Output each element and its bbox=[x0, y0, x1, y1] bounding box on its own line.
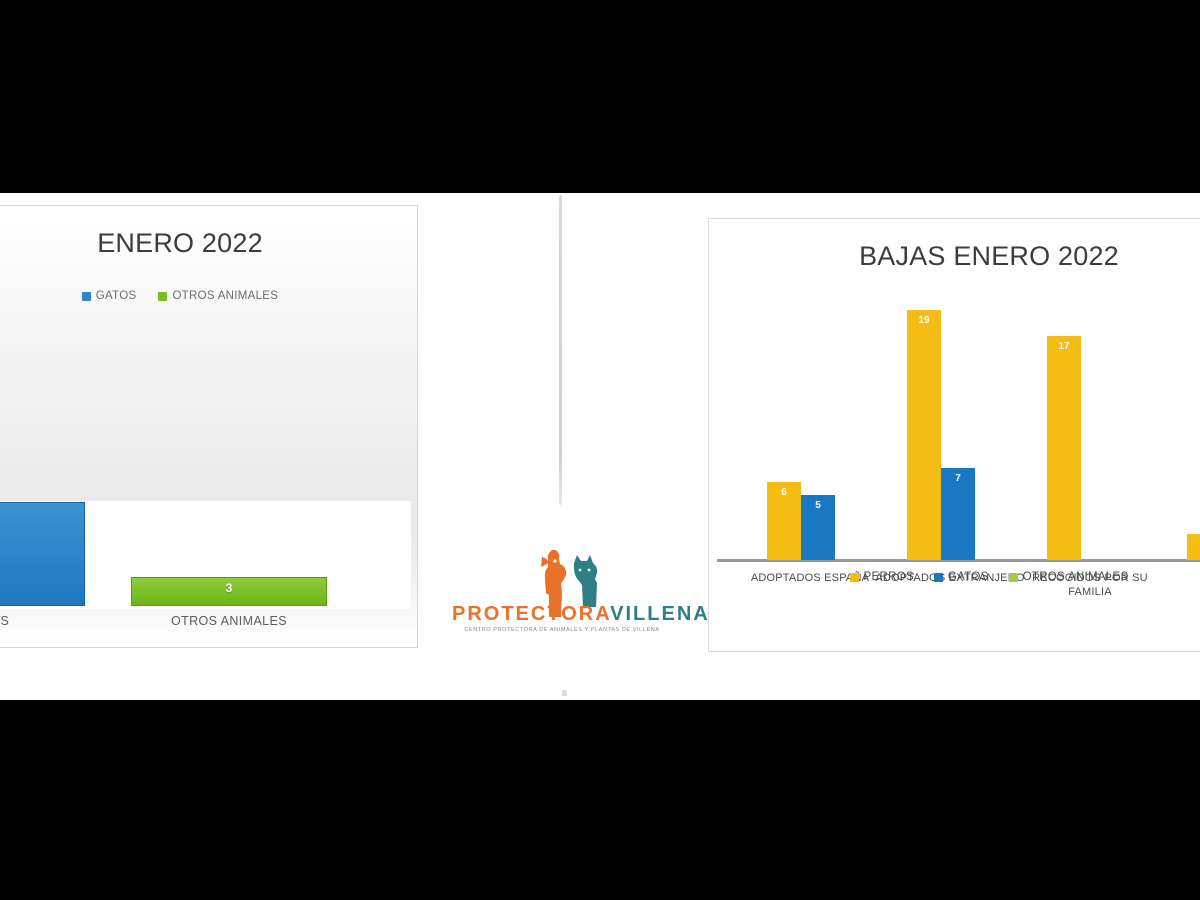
legend-label-perros: PERROS bbox=[864, 571, 914, 583]
presentation-slide: ENERO 2022 GATOS OTROS ANIMALES 11 GATOS bbox=[0, 193, 1200, 700]
xlabel-gatos: GATOS bbox=[0, 614, 85, 628]
left-chart-title: ENERO 2022 bbox=[0, 228, 419, 259]
legend-item-perros: PERROS bbox=[850, 571, 914, 583]
bar-group-fallecidos: 2 FALL bbox=[1155, 295, 1200, 560]
logo-word-villena: VILLENA bbox=[610, 603, 710, 625]
legend-item-gatos-right: GATOS bbox=[934, 571, 989, 583]
bar-group-recogidos-por-su-familia: 17 RECOGIDOS POR SU FAMILIA bbox=[1015, 295, 1165, 560]
right-chart-plot-area: 6 5 ADOPTADOS ESPAÑA 19 7 ADOPTADOS EXT bbox=[709, 291, 1200, 563]
bar-value-gatos-adoptados-espana: 5 bbox=[801, 500, 835, 511]
bar-value-otros-animales: 3 bbox=[132, 581, 326, 595]
legend-item-otros-animales-right: OTROS ANIMALES bbox=[1009, 571, 1129, 583]
bar-value-gatos: 11 bbox=[0, 509, 84, 523]
legend-swatch-gatos bbox=[82, 292, 91, 301]
left-chart-panel: ENERO 2022 GATOS OTROS ANIMALES 11 GATOS bbox=[0, 205, 418, 648]
right-chart-title: BAJAS ENERO 2022 bbox=[709, 241, 1200, 272]
right-chart-panel: BAJAS ENERO 2022 6 5 ADOPTADOS ESPAÑA bbox=[708, 218, 1200, 652]
bar-perros-fallecidos: 2 bbox=[1187, 534, 1200, 560]
letterbox-top bbox=[0, 0, 1200, 193]
legend-item-otros-animales: OTROS ANIMALES bbox=[158, 290, 278, 302]
bar-otros-animales: 3 bbox=[131, 577, 327, 606]
bar-value-perros-adoptados-extranjero: 19 bbox=[907, 315, 941, 326]
legend-swatch-gatos-right bbox=[934, 573, 943, 582]
bar-value-gatos-adoptados-extranjero: 7 bbox=[941, 473, 975, 484]
logo-wordmark: PROTECTORAVILLENA bbox=[452, 603, 672, 626]
logo-subtitle: CENTRO PROTECTORA DE ANIMALES Y PLANTAS … bbox=[452, 627, 672, 633]
legend-item-gatos: GATOS bbox=[82, 290, 137, 302]
legend-label-otros-animales: OTROS ANIMALES bbox=[172, 290, 278, 302]
legend-swatch-otros-animales bbox=[158, 292, 167, 301]
bar-value-perros-fallecidos: 2 bbox=[1187, 536, 1200, 547]
bar-perros-adoptados-extranjero: 19 bbox=[907, 310, 941, 560]
bar-perros-adoptados-espana: 6 bbox=[767, 482, 801, 560]
protectora-villena-logo: PROTECTORAVILLENA CENTRO PROTECTORA DE A… bbox=[452, 545, 672, 650]
left-chart-legend: GATOS OTROS ANIMALES bbox=[0, 290, 419, 302]
bar-group-adoptados-espana: 6 5 ADOPTADOS ESPAÑA bbox=[735, 295, 885, 560]
letterbox-bottom bbox=[0, 700, 1200, 900]
xlabel-otros-animales: OTROS ANIMALES bbox=[131, 614, 327, 628]
legend-label-otros-animales-right: OTROS ANIMALES bbox=[1023, 571, 1129, 583]
right-chart-legend: PERROS GATOS OTROS ANIMALES bbox=[709, 571, 1200, 583]
bar-perros-recogidos-por-su-familia: 17 bbox=[1047, 336, 1081, 560]
bar-value-perros-recogidos-por-su-familia: 17 bbox=[1047, 341, 1081, 352]
legend-swatch-otros-animales-right bbox=[1009, 573, 1018, 582]
legend-label-gatos-right: GATOS bbox=[948, 571, 989, 583]
logo-word-protectora: PROTECTORA bbox=[452, 603, 610, 625]
bar-gatos-adoptados-espana: 5 bbox=[801, 495, 835, 560]
bar-value-perros-adoptados-espana: 6 bbox=[767, 487, 801, 498]
bar-group-adoptados-extranjero: 19 7 ADOPTADOS EXTRANJERO bbox=[875, 295, 1025, 560]
legend-label-gatos: GATOS bbox=[96, 290, 137, 302]
slide-divider-nub bbox=[562, 690, 567, 696]
legend-swatch-perros bbox=[850, 573, 859, 582]
slide-divider-line bbox=[559, 195, 562, 505]
slide-screenshot: ENERO 2022 GATOS OTROS ANIMALES 11 GATOS bbox=[0, 0, 1200, 900]
bar-gatos-adoptados-extranjero: 7 bbox=[941, 468, 975, 560]
bar-gatos: 11 bbox=[0, 502, 85, 606]
left-chart-plot-area: 11 GATOS 3 OTROS ANIMALES bbox=[0, 326, 419, 609]
